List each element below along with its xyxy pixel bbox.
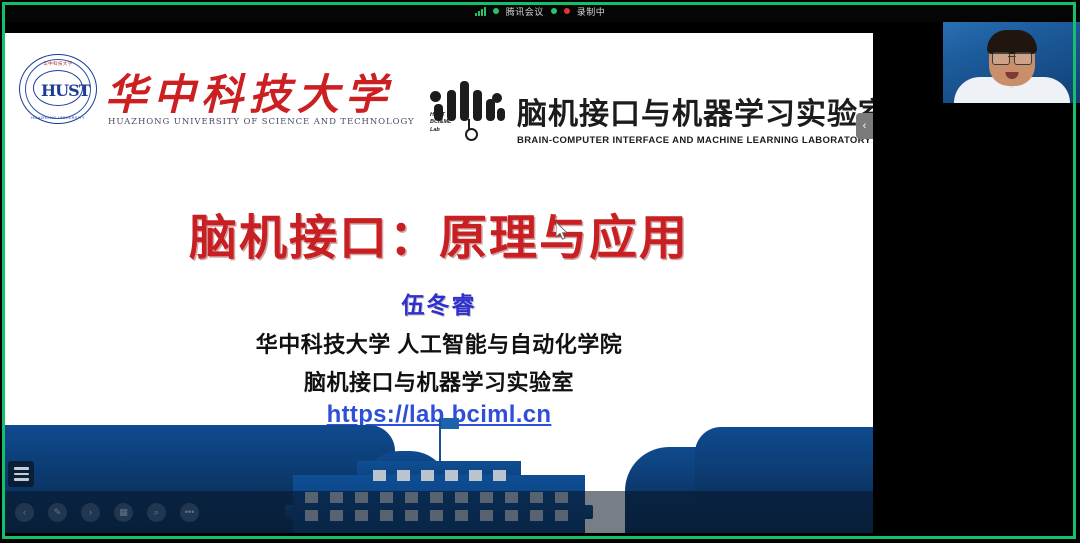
hust-seal-icon: 华中科技大学 HUST HUAZHONG UNIVERSITY (19, 54, 97, 124)
list-menu-icon[interactable] (8, 461, 34, 487)
presenter-toolbar: ‹ ✎ › ▦ ⌕ ••• (5, 491, 873, 533)
previous-slide-button[interactable]: ‹ (15, 503, 34, 522)
affiliation-line-1: 华中科技大学 人工智能与自动化学院 (5, 327, 873, 359)
signal-bars-icon (475, 7, 486, 16)
zoom-button[interactable]: ⌕ (147, 503, 166, 522)
glasses-icon (992, 52, 1032, 63)
seal-arc-bottom-text: HUAZHONG UNIVERSITY (19, 115, 97, 120)
presenter-name: 伍冬睿 (5, 286, 873, 320)
speaker-icon (551, 8, 557, 14)
presentation-slide[interactable]: 华中科技大学 HUST HUAZHONG UNIVERSITY 华中科技大学 H… (5, 33, 873, 533)
slide-grid-button[interactable]: ▦ (114, 503, 133, 522)
more-options-button[interactable]: ••• (180, 503, 199, 522)
university-name-en: HUAZHONG UNIVERSITY OF SCIENCE AND TECHN… (108, 117, 415, 127)
speaker-hair (987, 30, 1037, 54)
lab-logo-tag: HUSTBCI&MLLab (430, 112, 451, 134)
meeting-status-bar: 腾讯会议 录制中 (0, 0, 1080, 22)
seal-mark-text: HUST (41, 81, 90, 100)
next-slide-button[interactable]: › (81, 503, 100, 522)
pointer-button[interactable]: ✎ (48, 503, 67, 522)
lab-name-en: BRAIN-COMPUTER INTERFACE AND MACHINE LEA… (517, 135, 871, 146)
seal-arc-top-text: 华中科技大学 (19, 61, 97, 67)
mouse-cursor-icon (556, 222, 570, 242)
mic-active-icon (493, 8, 499, 14)
record-dot-icon (564, 8, 570, 14)
slide-header: 华中科技大学 HUST HUAZHONG UNIVERSITY 华中科技大学 H… (5, 33, 873, 133)
collapse-panel-button[interactable]: ‹ (856, 113, 873, 139)
recording-label: 录制中 (577, 5, 606, 18)
lab-logo-icon: HUSTBCI&MLLab (430, 81, 508, 139)
slide-title: 脑机接口：原理与应用 (5, 198, 873, 268)
screen-share-view: 腾讯会议 录制中 华中科技大学 HUST HUAZHONG UNIVERSITY… (0, 0, 1080, 543)
lab-name-cn: 脑机接口与机器学习实验室 (517, 89, 873, 133)
meeting-app-name: 腾讯会议 (506, 5, 544, 18)
university-name-cn: 华中科技大学 (105, 61, 393, 122)
